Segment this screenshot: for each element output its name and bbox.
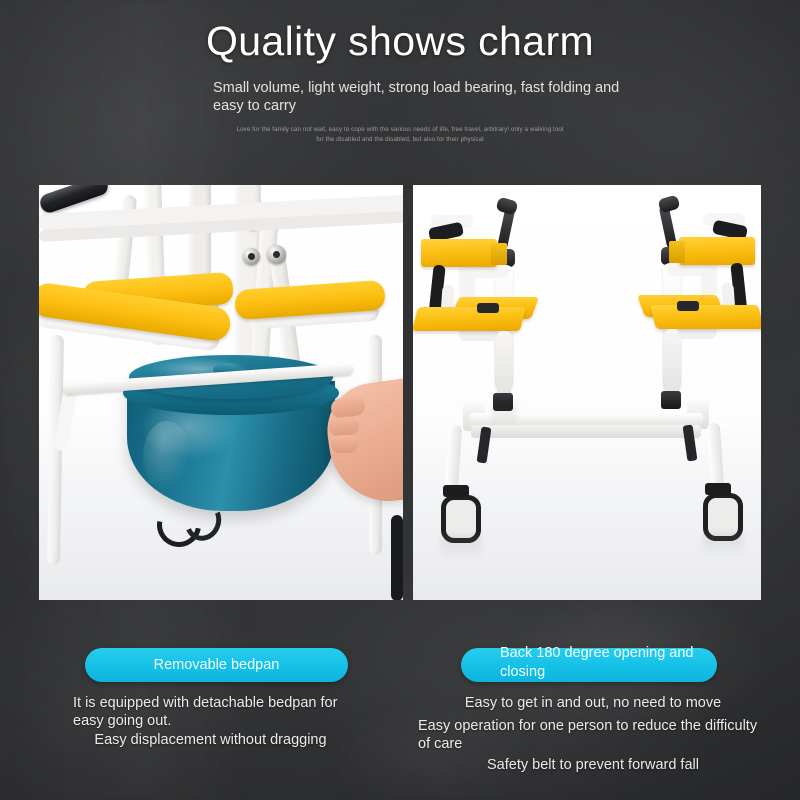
feature-pill-right[interactable]: Back 180 degree opening and closing xyxy=(461,648,717,682)
caster-bracket xyxy=(705,483,731,495)
lower-post xyxy=(497,331,511,399)
belt-clip xyxy=(477,303,499,313)
knob-center xyxy=(248,253,255,260)
feature-pill-right-label: Back 180 degree opening and closing xyxy=(500,644,715,682)
page-title: Quality shows charm xyxy=(0,0,800,65)
bedpan-highlight xyxy=(143,421,191,491)
seat-plate-yellow xyxy=(413,307,526,331)
caption-left-1: It is equipped with detachable bedpan fo… xyxy=(73,694,348,730)
chest-pad-yellow xyxy=(421,239,497,267)
fineprint-text: Love for the family can not wait, easy t… xyxy=(235,125,565,144)
subtitle-text: Small volume, light weight, strong load … xyxy=(171,79,629,115)
finger xyxy=(331,435,359,454)
photo-right-scene xyxy=(413,185,761,600)
header: Quality shows charm Small volume, light … xyxy=(0,0,800,144)
post-foot xyxy=(661,391,681,409)
floor-reflection xyxy=(491,407,517,427)
caption-right-1: Easy to get in and out, no need to move xyxy=(418,694,768,712)
caption-right-3: Safety belt to prevent forward fall xyxy=(418,756,768,774)
feature-pill-left[interactable]: Removable bedpan xyxy=(85,648,348,682)
caster-bracket xyxy=(443,485,469,497)
photo-left-scene xyxy=(39,185,403,600)
floor-reflection xyxy=(703,533,743,559)
chest-pad-side xyxy=(669,241,685,263)
product-photo-right xyxy=(413,185,761,600)
knob-center xyxy=(273,251,280,258)
chest-pad-side xyxy=(491,243,507,265)
belt-clip xyxy=(677,301,699,311)
seat-plate-yellow xyxy=(650,305,761,329)
product-photo-left xyxy=(39,185,403,600)
floor-reflection xyxy=(441,535,481,561)
chest-pad-yellow xyxy=(679,237,755,265)
caption-left-2: Easy displacement without dragging xyxy=(73,731,348,749)
feature-pill-left-label: Removable bedpan xyxy=(154,657,280,673)
lower-post xyxy=(665,329,679,397)
caption-right-2: Easy operation for one person to reduce … xyxy=(418,717,768,753)
dark-post xyxy=(391,515,403,600)
